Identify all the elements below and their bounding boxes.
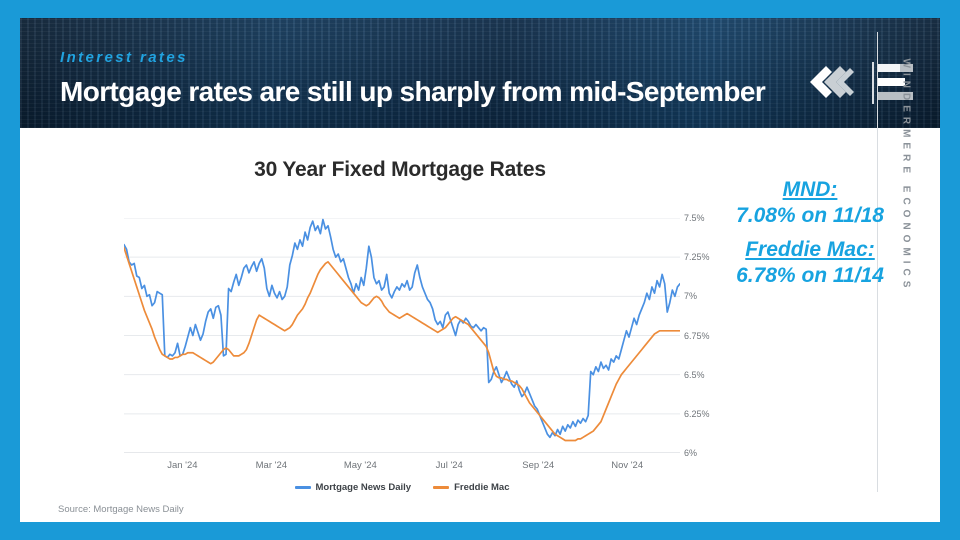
chart-plot-area [124,218,680,453]
callout-mnd-value: 7.08% on 11/18 [710,204,910,228]
source-note: Source: Mortgage News Daily [58,504,184,515]
legend-item[interactable]: Freddie Mac [433,482,509,493]
y-axis-tick-label: 7% [684,291,697,301]
callout-mnd-label: MND: [710,178,910,202]
slide-frame: Interest rates Mortgage rates are still … [0,0,960,540]
x-axis-tick-label: Mar '24 [256,460,287,471]
page-title: Mortgage rates are still up sharply from… [60,76,765,108]
header-band: Interest rates Mortgage rates are still … [20,18,940,128]
legend-label: Mortgage News Daily [316,482,412,493]
y-axis-tick-label: 7.25% [684,252,710,262]
y-axis-tick-label: 6.75% [684,331,710,341]
series-line [124,220,680,438]
legend-label: Freddie Mac [454,482,509,493]
y-axis-tick-label: 6% [684,448,697,458]
x-axis-tick-label: May '24 [344,460,377,471]
legend-item[interactable]: Mortgage News Daily [295,482,412,493]
line-chart-svg [124,218,680,453]
legend-swatch [433,486,449,489]
x-axis-tick-label: Jan '24 [167,460,197,471]
windermere-diamond-logo [806,62,858,102]
y-axis-tick-label: 6.25% [684,409,710,419]
y-axis-tick-label: 6.5% [684,370,705,380]
chart-title: 30 Year Fixed Mortgage Rates [140,158,660,182]
x-axis-tick-label: Sep '24 [522,460,554,471]
x-axis-tick-label: Jul '24 [436,460,463,471]
callout-freddie-value: 6.78% on 11/14 [710,264,910,288]
chart-gridlines [124,218,680,453]
chart-legend: Mortgage News DailyFreddie Mac [124,482,680,493]
chart-series [124,220,680,441]
header-sheen [20,18,940,128]
legend-swatch [295,486,311,489]
eyebrow-label: Interest rates [60,49,188,66]
callout-freddie-label: Freddie Mac: [710,238,910,262]
rate-callout: MND: 7.08% on 11/18 Freddie Mac: 6.78% o… [710,178,910,288]
slide-canvas: Interest rates Mortgage rates are still … [20,18,940,522]
y-axis-tick-label: 7.5% [684,213,705,223]
x-axis-tick-label: Nov '24 [611,460,643,471]
series-line [124,248,680,441]
